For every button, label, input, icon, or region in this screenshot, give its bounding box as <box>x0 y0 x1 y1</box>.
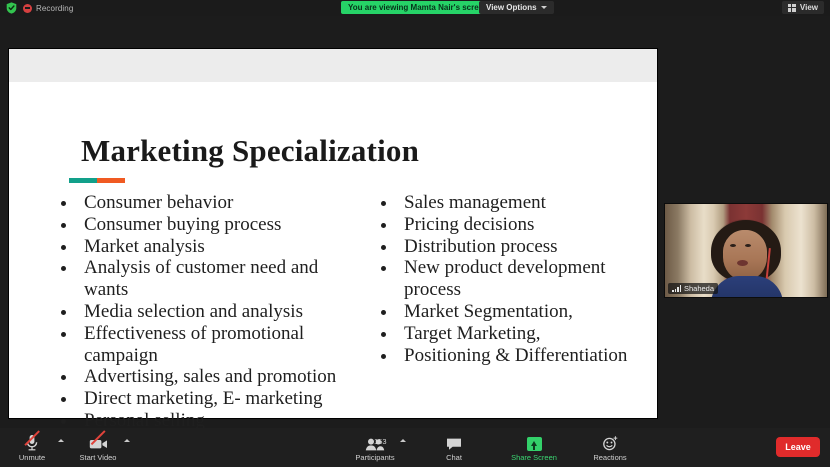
slide-content: Marketing Specialization Consumer behavi… <box>9 82 657 418</box>
start-video-label: Start Video <box>80 453 117 462</box>
shield-check-icon[interactable] <box>6 2 17 14</box>
start-video-button[interactable]: Start Video <box>72 428 124 467</box>
chevron-up-icon-video[interactable] <box>124 439 130 442</box>
view-button-label: View <box>800 3 818 12</box>
reactions-button[interactable]: Reactions <box>584 428 636 467</box>
participant-name: Shaheda <box>684 284 714 293</box>
view-options-label: View Options <box>486 1 537 14</box>
list-item: Market Segmentation, <box>374 301 644 323</box>
recording-label: Recording <box>36 4 73 13</box>
list-item: Market analysis <box>54 236 364 258</box>
participants-count: 153 <box>374 437 387 446</box>
recording-indicator[interactable]: Recording <box>23 4 73 13</box>
toolbar-center-group: 153 Participants Chat Share Scr <box>346 428 636 467</box>
unmute-button[interactable]: Unmute <box>6 428 58 467</box>
list-item: Effectiveness of promotional campaign <box>54 323 364 367</box>
smiley-icon <box>602 434 618 451</box>
bullet-column-right: Sales management Pricing decisions Distr… <box>364 192 644 432</box>
chevron-up-icon-participants[interactable] <box>400 439 406 442</box>
unmute-label: Unmute <box>19 453 45 462</box>
reactions-label: Reactions <box>593 453 626 462</box>
meeting-toolbar: Unmute Start Video <box>0 428 830 467</box>
view-layout-button[interactable]: View <box>782 1 824 14</box>
grid-icon <box>788 4 796 12</box>
list-item: Target Marketing, <box>374 323 644 345</box>
person-face <box>723 230 767 280</box>
list-item: Advertising, sales and promotion <box>54 366 364 388</box>
list-item: Sales management <box>374 192 644 214</box>
chevron-up-icon-audio[interactable] <box>58 439 64 442</box>
list-item: Pricing decisions <box>374 214 644 236</box>
camera-off-icon <box>89 434 108 451</box>
chat-button[interactable]: Chat <box>428 428 480 467</box>
leave-button[interactable]: Leave <box>776 437 820 457</box>
participants-label: Participants <box>355 453 394 462</box>
participant-name-badge: Shaheda <box>668 283 718 294</box>
person-eye-right <box>745 244 751 247</box>
person-eye-left <box>730 244 736 247</box>
share-arrow-glyph <box>531 441 537 446</box>
microphone-muted-icon <box>25 434 39 451</box>
list-item: Direct marketing, E- marketing <box>54 388 364 410</box>
list-item: Analysis of customer need and wants <box>54 257 364 301</box>
shared-slide[interactable]: Marketing Specialization Consumer behavi… <box>9 49 657 418</box>
top-bar-left-group: Recording <box>6 0 73 16</box>
list-item: Consumer behavior <box>54 192 364 214</box>
list-item: Media selection and analysis <box>54 301 364 323</box>
share-screen-button[interactable]: Share Screen <box>502 428 566 467</box>
person-mouth <box>737 260 748 266</box>
list-item: Positioning & Differentiation <box>374 345 644 367</box>
shared-screen-stage: Marketing Specialization Consumer behavi… <box>0 16 830 428</box>
toolbar-left-group: Unmute Start Video <box>6 428 124 467</box>
chat-label: Chat <box>446 453 462 462</box>
top-bar: Recording You are viewing Mamta Nair's s… <box>0 0 830 16</box>
accent-orange <box>97 178 125 183</box>
list-item: Distribution process <box>374 236 644 258</box>
recording-icon <box>23 4 32 13</box>
list-item: New product development process <box>374 257 644 301</box>
bullet-columns: Consumer behavior Consumer buying proces… <box>9 192 657 432</box>
zoom-meeting-window: Recording You are viewing Mamta Nair's s… <box>0 0 830 467</box>
participant-video-thumbnail[interactable]: Shaheda <box>664 203 828 298</box>
chevron-down-icon <box>541 6 547 9</box>
person-torso <box>711 276 783 298</box>
chat-bubble-icon <box>446 434 462 451</box>
page-title: Marketing Specialization <box>81 133 419 169</box>
accent-teal <box>69 178 97 183</box>
signal-bars-icon <box>672 285 681 292</box>
view-options-button[interactable]: View Options <box>479 1 554 14</box>
bullet-list-right: Sales management Pricing decisions Distr… <box>374 192 644 366</box>
list-item: Consumer buying process <box>54 214 364 236</box>
bullet-list-left: Consumer behavior Consumer buying proces… <box>54 192 364 432</box>
bullet-column-left: Consumer behavior Consumer buying proces… <box>9 192 364 432</box>
share-screen-icon <box>527 434 542 451</box>
screen-share-banner: You are viewing Mamta Nair's screen <box>341 1 495 14</box>
share-screen-glyph <box>527 437 542 451</box>
slide-top-band <box>9 49 657 82</box>
share-screen-label: Share Screen <box>511 453 557 462</box>
title-accent-bar <box>69 178 125 183</box>
participants-button[interactable]: 153 Participants <box>346 428 404 467</box>
